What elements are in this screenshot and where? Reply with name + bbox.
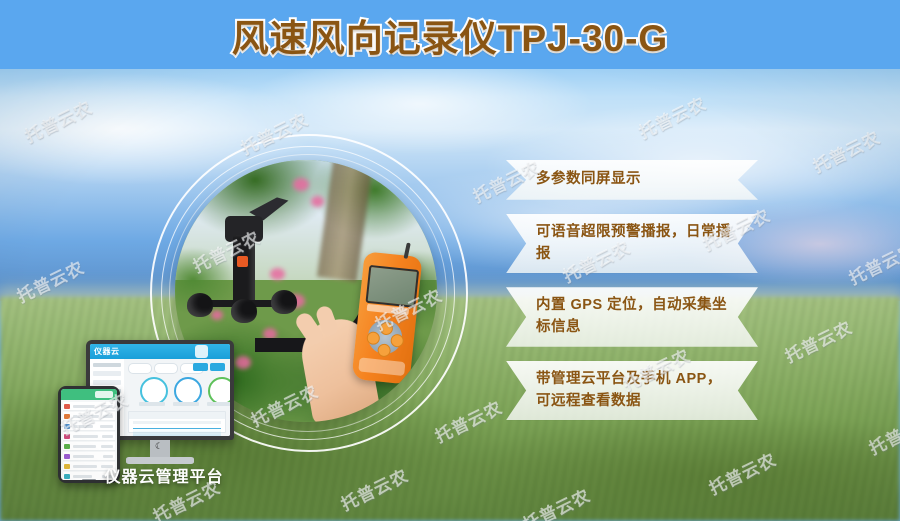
dashboard-tab [128, 363, 152, 374]
anemometer-cup [231, 299, 257, 323]
device-mockup-caption: 仪器云管理平台 [58, 463, 270, 487]
sidebar-item [93, 371, 121, 376]
gauge-caption [173, 402, 199, 406]
phone-app-header [61, 389, 117, 400]
photo-flower [293, 178, 309, 191]
dashboard-gauge-row [130, 377, 226, 407]
list-item-icon [64, 454, 70, 459]
feature-built-in-gps[interactable]: 内置 GPS 定位，自动采集坐标信息 [506, 287, 758, 347]
phone-list-item [63, 412, 115, 421]
device-key-down [377, 343, 391, 357]
anemometer-cup [187, 293, 213, 317]
feature-voice-alarm[interactable]: 可语音超限预警播报，日常播报 [506, 214, 758, 274]
list-item-label [73, 415, 99, 418]
phone-list-item [63, 432, 115, 441]
feature-label: 可语音超限预警播报，日常播报 [536, 222, 732, 266]
feature-label: 带管理云平台及手机 APP，可远程查看数据 [536, 369, 732, 413]
dashboard-action-button [193, 363, 208, 371]
dashboard-content [124, 359, 230, 436]
feature-label: 多参数同屏显示 [536, 169, 641, 191]
gauge-leaf-status [208, 377, 230, 405]
list-item-value [101, 445, 113, 448]
list-item-value [102, 435, 113, 438]
dashboard-chart-panel [128, 411, 226, 433]
feature-list: 多参数同屏显示 可语音超限预警播报，日常播报 内置 GPS 定位，自动采集坐标信… [506, 160, 758, 434]
list-item-icon [64, 434, 70, 439]
dashboard-action-button [210, 363, 225, 371]
list-item-icon [64, 404, 70, 409]
phone-list-item [63, 452, 115, 461]
gauge-caption [207, 402, 230, 406]
dashboard-header-bar: 仪器云 [90, 344, 230, 359]
monitor-brand-icon: ☾ [155, 441, 163, 452]
list-item-icon [64, 414, 70, 419]
list-item-value [103, 415, 113, 418]
photo-flower [311, 196, 324, 207]
phone-list-item [63, 422, 115, 431]
chart-axis-row [133, 421, 221, 424]
list-item-label [73, 455, 94, 458]
phone-list-item [63, 402, 115, 411]
list-item-icon [64, 424, 70, 429]
phone-header-tab [95, 391, 113, 398]
chart-trend-line [133, 428, 221, 436]
dashboard-avatar-icon [195, 345, 208, 358]
list-item-value [103, 455, 113, 458]
list-item-label [73, 425, 93, 428]
feature-cloud-platform-app[interactable]: 带管理云平台及手机 APP，可远程查看数据 [506, 361, 758, 421]
gauge-air-humidity [174, 377, 202, 405]
list-item-value [101, 405, 113, 408]
chart-title-bar [129, 412, 225, 419]
phone-list-item [63, 442, 115, 451]
dashboard-logo: 仪器云 [94, 346, 120, 357]
dashboard-tab-row [128, 363, 226, 372]
device-footer-label [358, 357, 405, 376]
feature-label: 内置 GPS 定位，自动采集坐标信息 [536, 295, 732, 339]
photo-flower [211, 310, 223, 320]
gauge-caption [139, 402, 165, 406]
sidebar-section-header [93, 363, 121, 367]
anemometer-indicator [237, 256, 248, 267]
list-item-label [73, 435, 98, 438]
dashboard-tab [154, 363, 178, 374]
product-poster: 仪器云 [0, 0, 900, 521]
header-banner: 风速风向记录仪TPJ-30-G [0, 0, 900, 69]
cloud-platform-mockup: 仪器云 [58, 340, 270, 490]
list-item-value [100, 425, 113, 428]
page-title: 风速风向记录仪TPJ-30-G [0, 0, 900, 69]
gauge-air-temperature [140, 377, 168, 405]
feature-multi-parameter-display[interactable]: 多参数同屏显示 [506, 160, 758, 200]
sidebar-item [93, 380, 121, 385]
list-item-label [73, 445, 96, 448]
device-key-right [390, 334, 404, 348]
list-item-label [73, 405, 95, 408]
list-item-icon [64, 444, 70, 449]
device-display-screen [365, 265, 419, 308]
